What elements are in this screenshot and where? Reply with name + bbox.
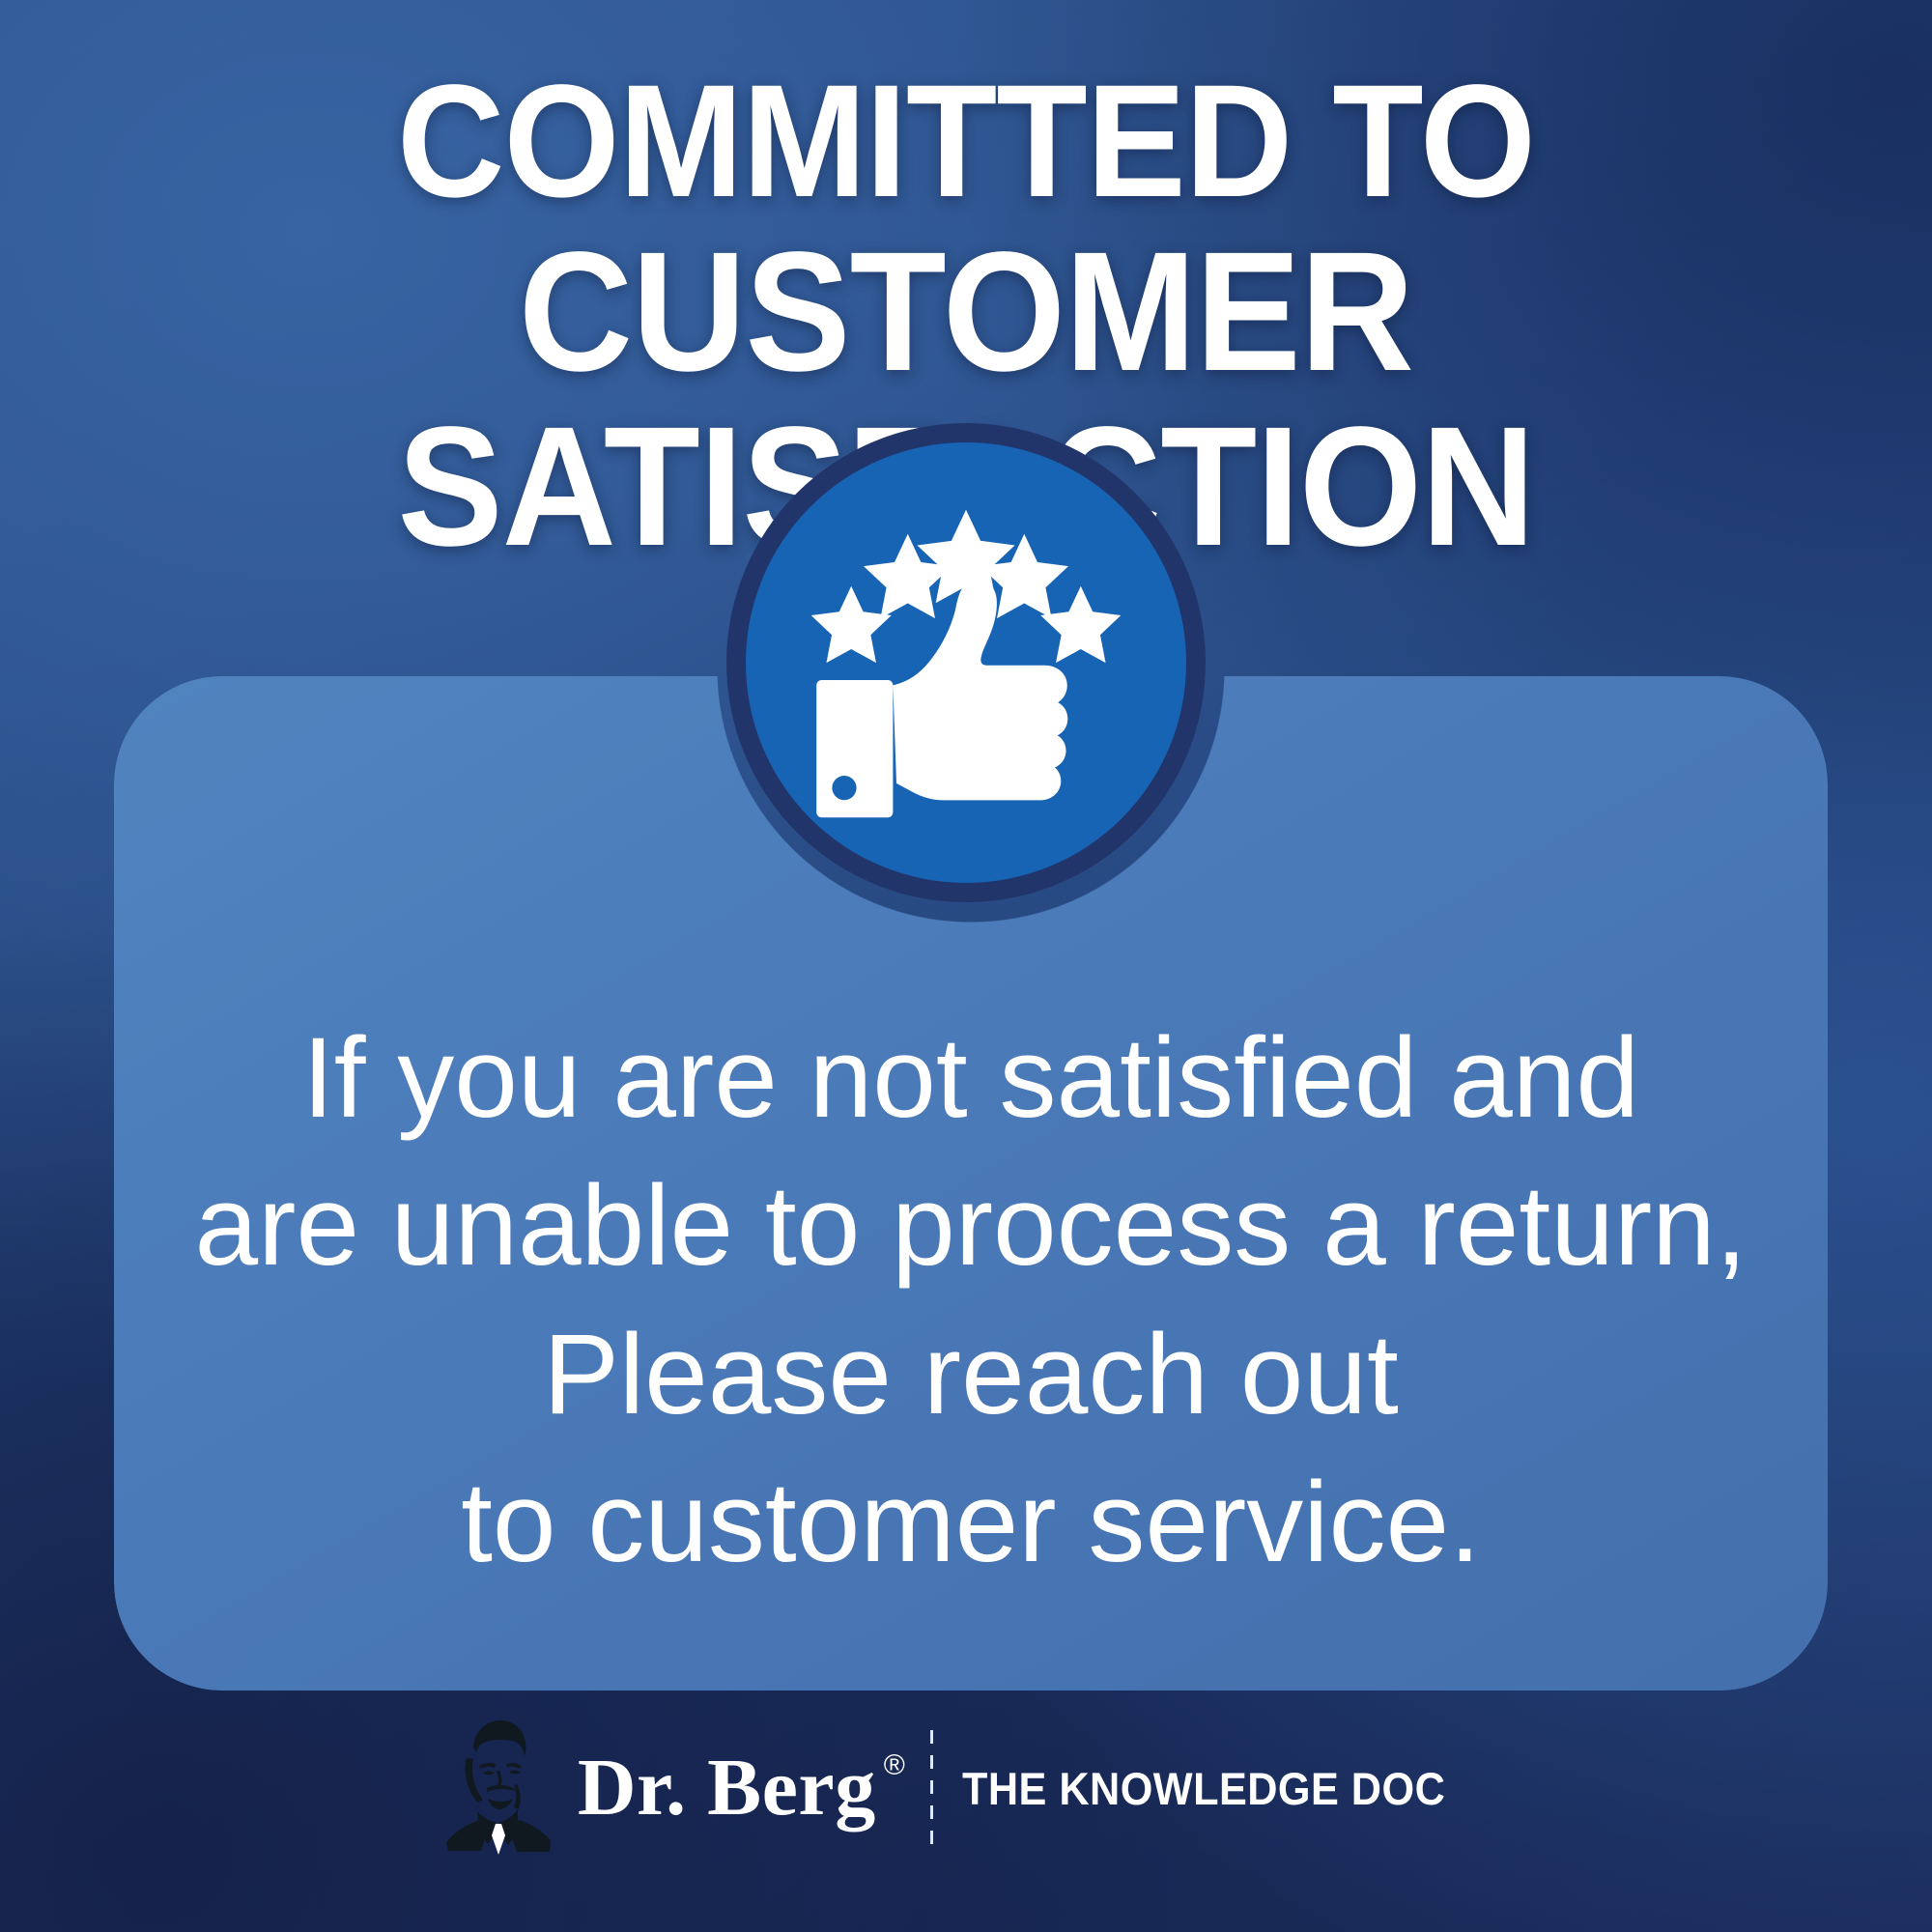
brand-tagline: THE KNOWLEDGE DOC <box>962 1762 1445 1815</box>
body-line-4: to customer service. <box>114 1449 1828 1597</box>
title-line-1: COMMITTED TO <box>68 60 1864 225</box>
thumbs-up-five-stars-icon <box>792 489 1140 837</box>
brand-lockup: Dr. Berg ® THE KNOWLEDGE DOC <box>0 1716 1932 1861</box>
poster-canvas: COMMITTED TO CUSTOMER SATISFACTION <box>0 0 1932 1932</box>
card-body-text: If you are not satisfied and are unable … <box>114 1005 1828 1598</box>
body-line-2: are unable to process a return, <box>114 1152 1828 1300</box>
dr-berg-portrait-icon <box>444 1716 553 1861</box>
satisfaction-badge <box>746 442 1186 883</box>
body-line-3: Please reach out <box>114 1301 1828 1449</box>
brand-name: Dr. Berg <box>578 1747 876 1829</box>
brand-divider <box>930 1730 933 1846</box>
registered-trademark-icon: ® <box>884 1751 906 1780</box>
brand-wordmark: Dr. Berg ® <box>578 1747 905 1829</box>
body-line-1: If you are not satisfied and <box>114 1005 1828 1152</box>
